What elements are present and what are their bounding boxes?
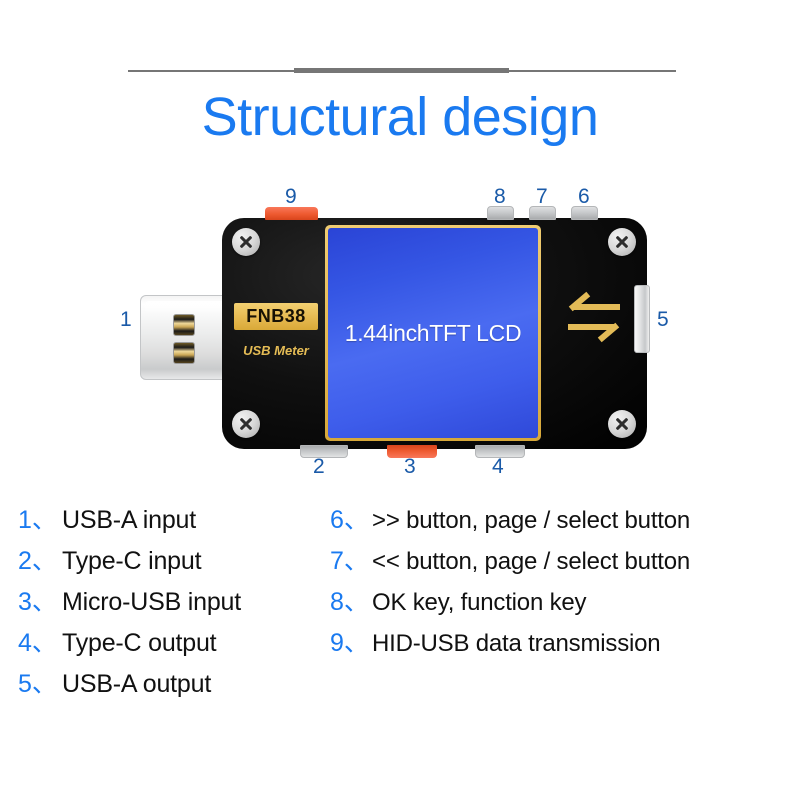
legend-item-1: 1、 USB-A input: [18, 500, 323, 541]
usb-a-input-connector: [140, 295, 232, 380]
legend-column-left: 1、 USB-A input 2、 Type-C input 3、 Micro-…: [18, 500, 323, 705]
legend-number-9: 9、: [330, 623, 372, 659]
legend-item-2: 2、 Type-C input: [18, 541, 323, 582]
callout-4: 4: [492, 455, 504, 479]
legend-label-5: USB-A output: [62, 670, 211, 699]
header-divider: [128, 66, 676, 76]
page-root: Structural design FNB38 USB Meter 1.44in…: [0, 0, 800, 800]
callout-8: 8: [494, 185, 506, 209]
legend-item-6: 6、 >> button, page / select button: [330, 500, 800, 541]
legend-item-9: 9、 HID-USB data transmission: [330, 623, 800, 664]
callout-7: 7: [536, 185, 548, 209]
lcd-screen: 1.44inchTFT LCD: [328, 228, 538, 438]
legend-item-4: 4、 Type-C output: [18, 623, 323, 664]
screw-bottom-left-icon: [232, 410, 260, 438]
legend-number-1: 1、: [18, 500, 62, 536]
legend-number-6: 6、: [330, 500, 372, 536]
page-title: Structural design: [0, 86, 800, 148]
legend-item-5: 5、 USB-A output: [18, 664, 323, 705]
callout-3: 3: [404, 455, 416, 479]
brand-label: FNB38: [234, 303, 318, 330]
callout-2: 2: [313, 455, 325, 479]
legend-number-8: 8、: [330, 582, 372, 618]
legend-number-4: 4、: [18, 623, 62, 659]
callout-9: 9: [285, 185, 297, 209]
usb-pin-lower: [173, 342, 195, 364]
legend-label-4: Type-C output: [62, 629, 216, 658]
legend-label-3: Micro-USB input: [62, 588, 241, 617]
usb-pin-upper: [173, 314, 195, 336]
callout-1: 1: [120, 308, 132, 332]
legend-label-8: OK key, function key: [372, 589, 586, 617]
legend-item-7: 7、 << button, page / select button: [330, 541, 800, 582]
device-illustration: FNB38 USB Meter 1.44inchTFT LCD: [0, 185, 800, 485]
legend-number-7: 7、: [330, 541, 372, 577]
legend-label-2: Type-C input: [62, 547, 201, 576]
legend-number-3: 3、: [18, 582, 62, 618]
legend-label-6: >> button, page / select button: [372, 507, 690, 535]
callout-5: 5: [657, 308, 669, 332]
legend-column-right: 6、 >> button, page / select button 7、 <<…: [330, 500, 800, 664]
divider-thick-line: [294, 68, 509, 73]
legend-label-7: << button, page / select button: [372, 548, 690, 576]
lcd-bezel: 1.44inchTFT LCD: [325, 225, 541, 441]
legend-label-9: HID-USB data transmission: [372, 630, 660, 658]
legend: 1、 USB-A input 2、 Type-C input 3、 Micro-…: [0, 500, 800, 730]
legend-label-1: USB-A input: [62, 506, 196, 535]
callout-6: 6: [578, 185, 590, 209]
lcd-screen-text: 1.44inchTFT LCD: [345, 320, 522, 347]
brand-sub-label: USB Meter: [234, 343, 318, 358]
legend-number-5: 5、: [18, 664, 62, 700]
screw-top-left-icon: [232, 228, 260, 256]
screw-bottom-right-icon: [608, 410, 636, 438]
legend-item-3: 3、 Micro-USB input: [18, 582, 323, 623]
usb-a-output-port: [634, 285, 650, 353]
bidirectional-arrow-icon: [565, 288, 623, 346]
legend-item-8: 8、 OK key, function key: [330, 582, 800, 623]
screw-top-right-icon: [608, 228, 636, 256]
legend-number-2: 2、: [18, 541, 62, 577]
